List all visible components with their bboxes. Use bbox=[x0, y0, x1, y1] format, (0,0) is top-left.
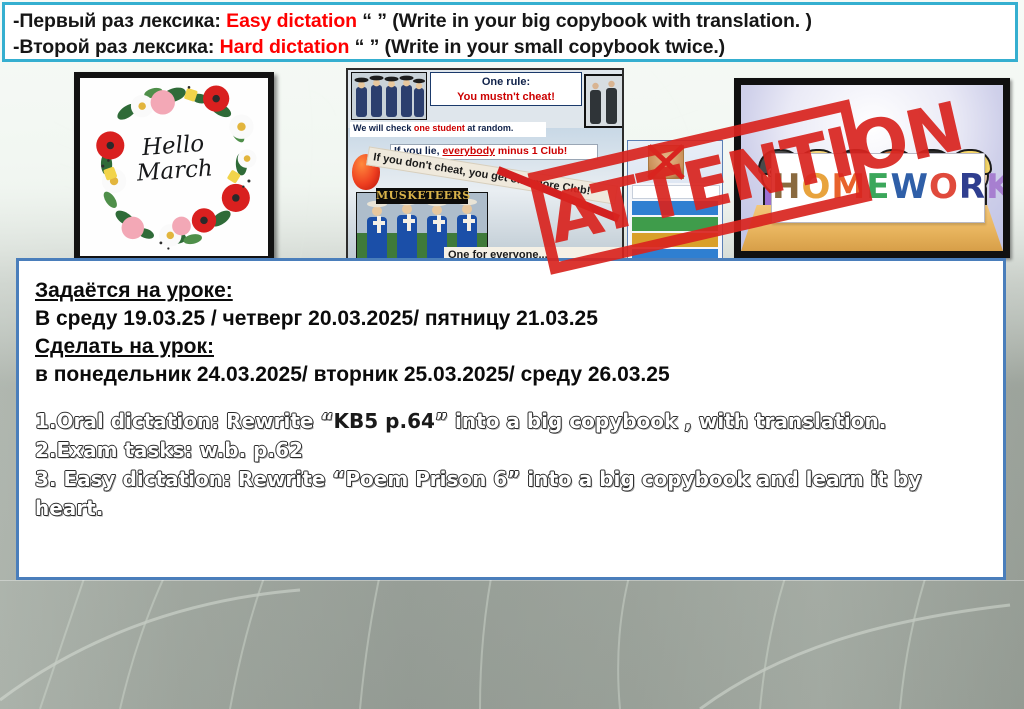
task-line-1: 1.Oral dictation: Rewrite “KB5 p.64” int… bbox=[35, 407, 989, 436]
header-line-1-highlight: Easy dictation bbox=[226, 10, 357, 32]
background-divider bbox=[0, 580, 1024, 581]
collage-rule-text: You mustn't cheat! bbox=[431, 90, 581, 105]
homework-letter-7: K bbox=[986, 167, 1010, 207]
musketeers-title: MUSKETEERS bbox=[376, 188, 468, 204]
task-3-prefix: 3. Easy dictation: Rewrite “Poem Prison … bbox=[35, 467, 921, 520]
task-1-prefix: 1.Oral dictation: Rewrite “ bbox=[35, 409, 334, 433]
task-1-reference: KB5 p.64 bbox=[334, 409, 435, 433]
assigned-heading-text: Задаётся на уроке: bbox=[35, 279, 233, 302]
header-line-1-prefix: -Первый раз лексика: bbox=[13, 10, 226, 32]
task-list: 1.Oral dictation: Rewrite “KB5 p.64” int… bbox=[35, 407, 989, 523]
task-1-suffix: ” into a big copybook , with translation… bbox=[435, 409, 886, 433]
header-banner: -Первый раз лексика: Easy dictation “ ” … bbox=[2, 2, 1018, 62]
homework-details-box: Задаётся на уроке: В среду 19.03.25 / че… bbox=[16, 258, 1006, 580]
assigned-heading: Задаётся на уроке: bbox=[35, 277, 989, 305]
header-line-1: -Первый раз лексика: Easy dictation “ ” … bbox=[13, 8, 1015, 34]
header-line-2: -Второй раз лексика: Hard dictation “ ” … bbox=[13, 34, 1015, 60]
photo-musketeers-right bbox=[584, 74, 624, 128]
musketeers-group-icon bbox=[352, 73, 426, 119]
header-line-2-prefix: -Второй раз лексика: bbox=[13, 36, 220, 58]
due-heading: Сделать на урок: bbox=[35, 333, 989, 361]
slide-canvas: -Первый раз лексика: Easy dictation “ ” … bbox=[0, 0, 1024, 709]
caption-check-post: at random. bbox=[465, 123, 514, 133]
musketeers-title-text: MUSKETEERS bbox=[376, 189, 471, 202]
collage-caption-check: We will check one student at random. bbox=[350, 122, 546, 137]
collage-rule-title: One rule: bbox=[431, 75, 581, 90]
caption-check-pre: We will check bbox=[353, 123, 414, 133]
spacer bbox=[35, 389, 989, 407]
caption-check-highlight: one student bbox=[414, 123, 465, 133]
header-line-2-highlight: Hard dictation bbox=[220, 36, 350, 58]
assigned-dates: В среду 19.03.25 / четверг 20.03.2025/ п… bbox=[35, 305, 989, 333]
header-line-2-suffix: “ ” (Write in your small copybook twice.… bbox=[349, 36, 725, 58]
due-dates: в понедельник 24.03.2025/ вторник 25.03.… bbox=[35, 361, 989, 389]
task-2-prefix: 2.Exam tasks: w.b. p.62 bbox=[35, 438, 303, 462]
task-line-3: 3. Easy dictation: Rewrite “Poem Prison … bbox=[35, 465, 989, 523]
header-line-1-suffix: “ ” (Write in your big copybook with tra… bbox=[357, 10, 812, 32]
task-line-2: 2.Exam tasks: w.b. p.62 bbox=[35, 436, 989, 465]
collage-rule-box: One rule: You mustn't cheat! bbox=[430, 72, 582, 106]
homework-letter-6: R bbox=[959, 167, 986, 207]
picture-hello-march: Hello March bbox=[74, 72, 274, 262]
soldiers-icon bbox=[586, 76, 624, 126]
due-heading-text: Сделать на урок: bbox=[35, 335, 214, 358]
photo-musketeers-left bbox=[351, 72, 427, 120]
caption-lie-highlight: everybody bbox=[442, 145, 495, 157]
caption-lie-post: minus 1 Club! bbox=[495, 145, 567, 157]
